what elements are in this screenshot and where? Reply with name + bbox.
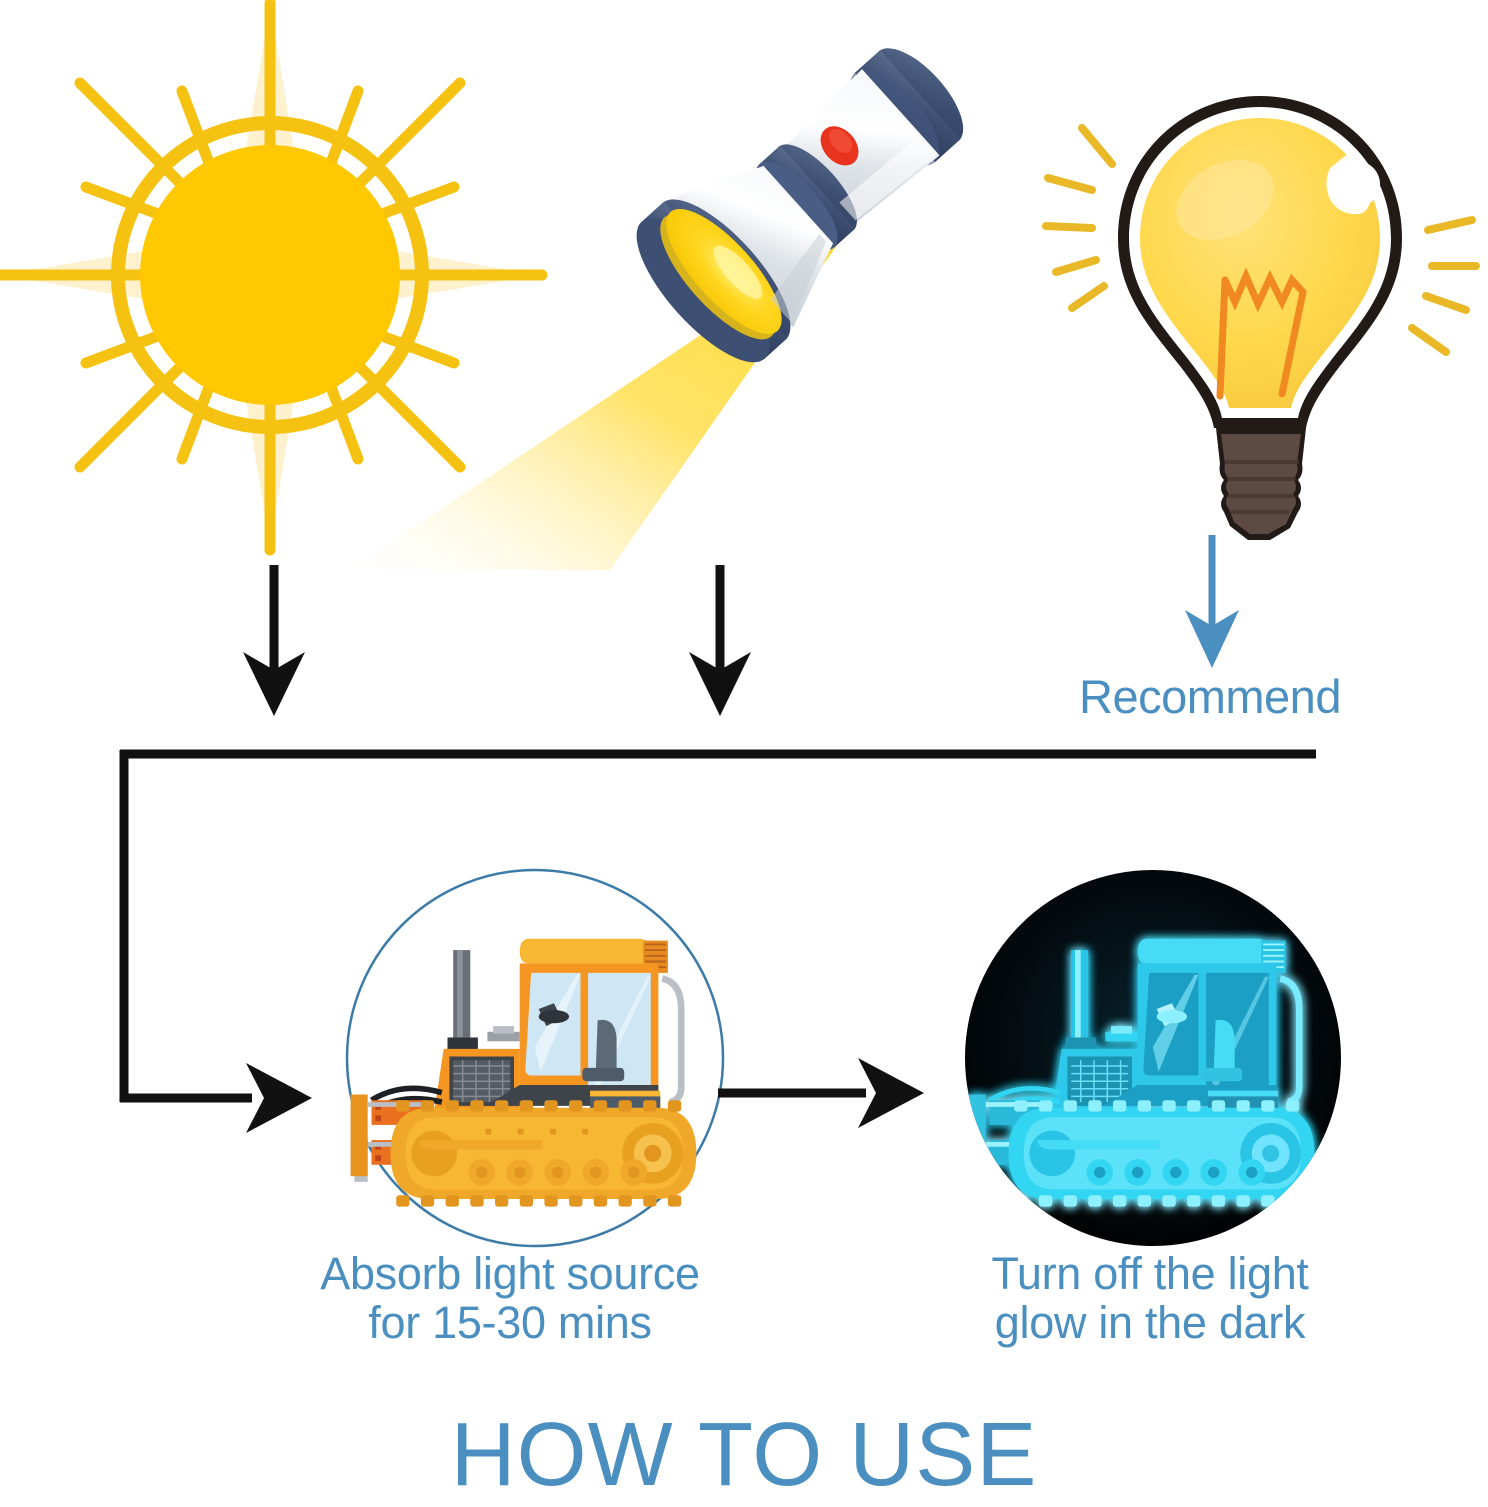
how-to-use-infographic: Recommend xyxy=(0,0,1488,1500)
glow-step-caption: Turn off the light glow in the dark xyxy=(900,1250,1400,1347)
arrow-sun-down xyxy=(243,565,305,716)
arrow-flashlight-down xyxy=(689,565,751,716)
arrow-step-right xyxy=(710,1035,970,1155)
absorb-step-caption: Absorb light source for 15-30 mins xyxy=(240,1250,780,1347)
bulldozer-lit-icon xyxy=(325,862,745,1262)
page-title: HOW TO USE xyxy=(0,1404,1488,1507)
source-arrows xyxy=(0,0,1488,760)
recommend-badge: Recommend xyxy=(1030,672,1390,723)
arrow-bulb-down xyxy=(1185,535,1239,668)
bulldozer-glowing-icon xyxy=(943,862,1363,1262)
